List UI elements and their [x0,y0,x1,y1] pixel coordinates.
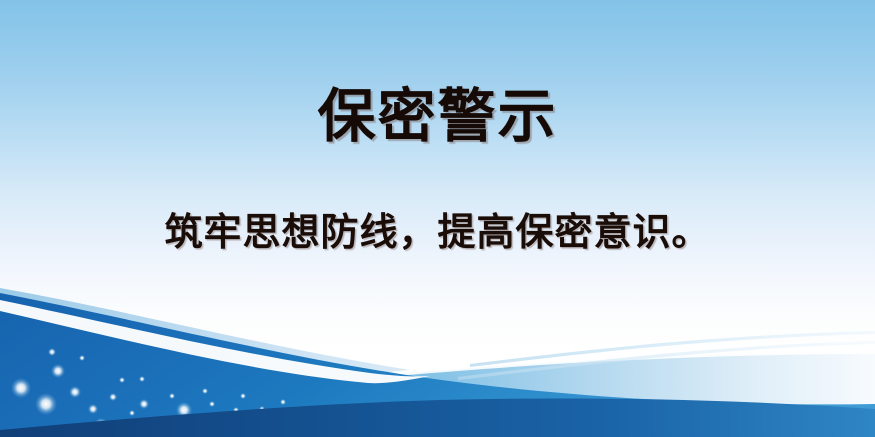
poster-slogan: 筑牢思想防线，提高保密意识。 [0,209,875,255]
secrecy-warning-poster: 保密警示 筑牢思想防线，提高保密意识。 [0,0,875,437]
page-title: 保密警示 [0,84,875,148]
poster-text-layer: 保密警示 筑牢思想防线，提高保密意识。 [0,0,875,437]
